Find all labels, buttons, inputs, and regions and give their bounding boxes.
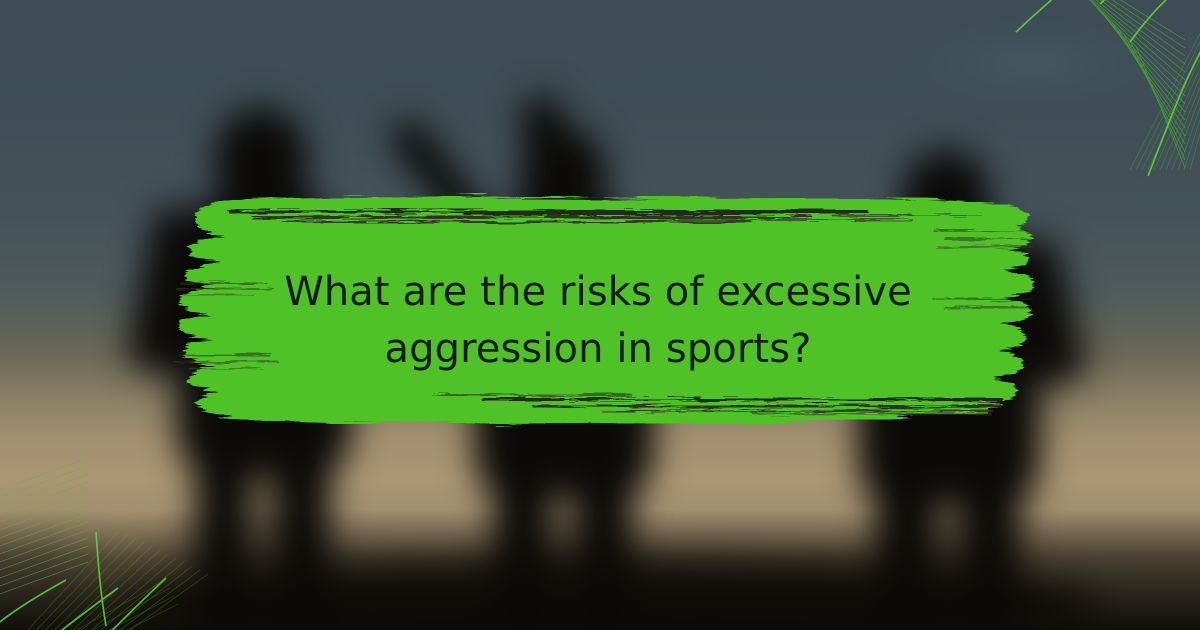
quote-card: What are the risks of excessive aggressi… <box>0 0 1200 630</box>
ground-band <box>0 510 1200 630</box>
quote-text: What are the risks of excessive aggressi… <box>178 264 1018 378</box>
